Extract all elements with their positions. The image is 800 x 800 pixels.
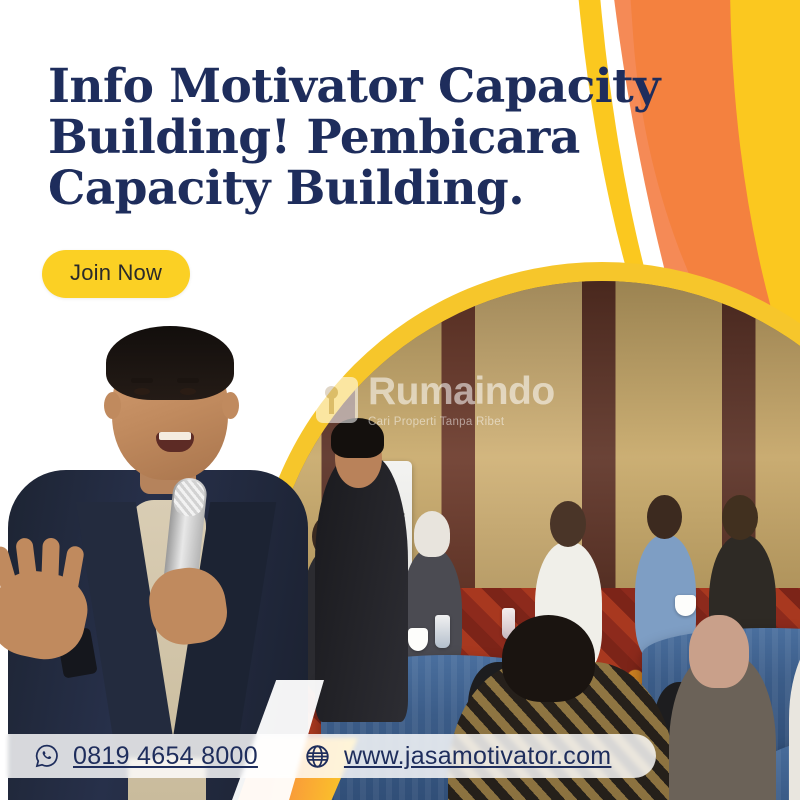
page-title: Info Motivator Capacity Building! Pembic… [48,62,720,214]
globe-icon [304,743,331,770]
attendee-hijab-head [689,615,749,688]
join-now-button[interactable]: Join Now [42,250,190,298]
promo-poster: Rumaindo Cari Properti Tanpa Ribet Info … [0,0,800,800]
website-contact[interactable]: www.jasamotivator.com [304,742,612,771]
foreground-attendee-head [502,615,596,702]
attendee-head [647,495,682,539]
attendee-head [414,511,450,556]
coffee-cup [675,595,695,616]
speaker-ear-right [222,392,239,419]
headline-line-3: Capacity Building. [48,164,720,215]
speaker-brow-right [177,378,199,383]
whatsapp-number: 0819 4654 8000 [73,742,258,771]
attendee-head [550,501,586,546]
whatsapp-icon [34,743,60,769]
headline-line-1: Info Motivator Capacity [48,62,720,113]
speaker-brow-left [131,378,153,383]
presenter-hair [331,418,384,458]
speaker-ear-left [104,392,121,419]
speaker-mouth [156,432,194,452]
drinking-glass [435,615,450,648]
event-photo [268,281,800,800]
speaker-eye-left [134,388,150,395]
conference-room-scene [268,281,800,800]
whatsapp-contact[interactable]: 0819 4654 8000 [34,742,258,771]
contact-bar: 0819 4654 8000 www.jasamotivator.com [0,734,656,778]
speaker-hair [106,326,234,400]
speaker-eye-right [180,388,196,395]
website-url: www.jasamotivator.com [344,742,612,771]
speaker-finger [41,538,60,587]
headline-line-2: Building! Pembicara [48,113,720,164]
